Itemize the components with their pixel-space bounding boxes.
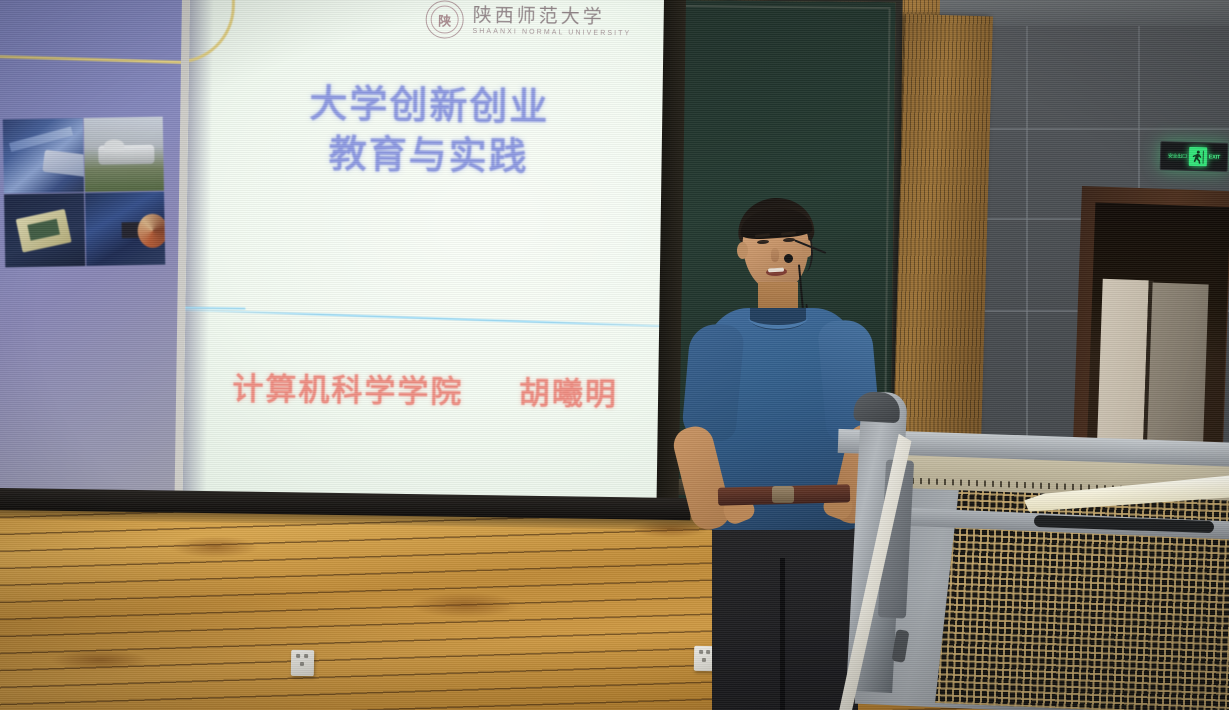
lecture-hall-photo: 安全出口 EXIT [0, 0, 1229, 710]
lectern[interactable] [848, 392, 1229, 710]
slide-title: 大学创新创业 教育与实践 [187, 77, 670, 184]
slide-credit-department: 计算机科学学院 [232, 371, 464, 410]
headset-mic-band [798, 232, 813, 272]
projection-screen: 陕 陕西师范大学 SHAANXI NORMAL UNIVERSITY 大学创新创… [0, 0, 684, 524]
university-name-en: SHAANXI NORMAL UNIVERSITY [472, 27, 631, 36]
presenter-ear-left [737, 242, 748, 259]
presenter-leg-split [780, 558, 785, 710]
university-seal-icon: 陕 [425, 0, 464, 39]
university-name-zh: 陕西师范大学 [473, 5, 632, 26]
seal-character: 陕 [438, 10, 451, 29]
slide-title-line-1: 大学创新创业 [188, 77, 671, 134]
headset-mic-capsule [784, 254, 793, 263]
slide-credit-presenter: 胡曦明 [519, 376, 619, 413]
running-man-icon [1188, 147, 1206, 166]
university-logo: 陕 陕西师范大学 SHAANXI NORMAL UNIVERSITY [425, 0, 631, 41]
presentation-slide: 陕 陕西师范大学 SHAANXI NORMAL UNIVERSITY 大学创新创… [183, 0, 672, 498]
presenter-sleeve-left [681, 322, 745, 442]
slide-credit: 计算机科学学院 胡曦明 [184, 363, 667, 415]
presenter-collar-rim [748, 305, 808, 329]
exit-sign-label-en: EXIT [1209, 154, 1221, 160]
exit-sign-label-zh: 安全出口 [1168, 152, 1187, 159]
presenter-belt-buckle [772, 486, 794, 503]
slide-title-line-2: 教育与实践 [187, 127, 670, 184]
presenter-nose [771, 248, 779, 262]
emergency-exit-sign: 安全出口 EXIT [1160, 141, 1229, 172]
slide-divider-line [183, 309, 672, 328]
wall-socket-left[interactable] [291, 650, 314, 676]
